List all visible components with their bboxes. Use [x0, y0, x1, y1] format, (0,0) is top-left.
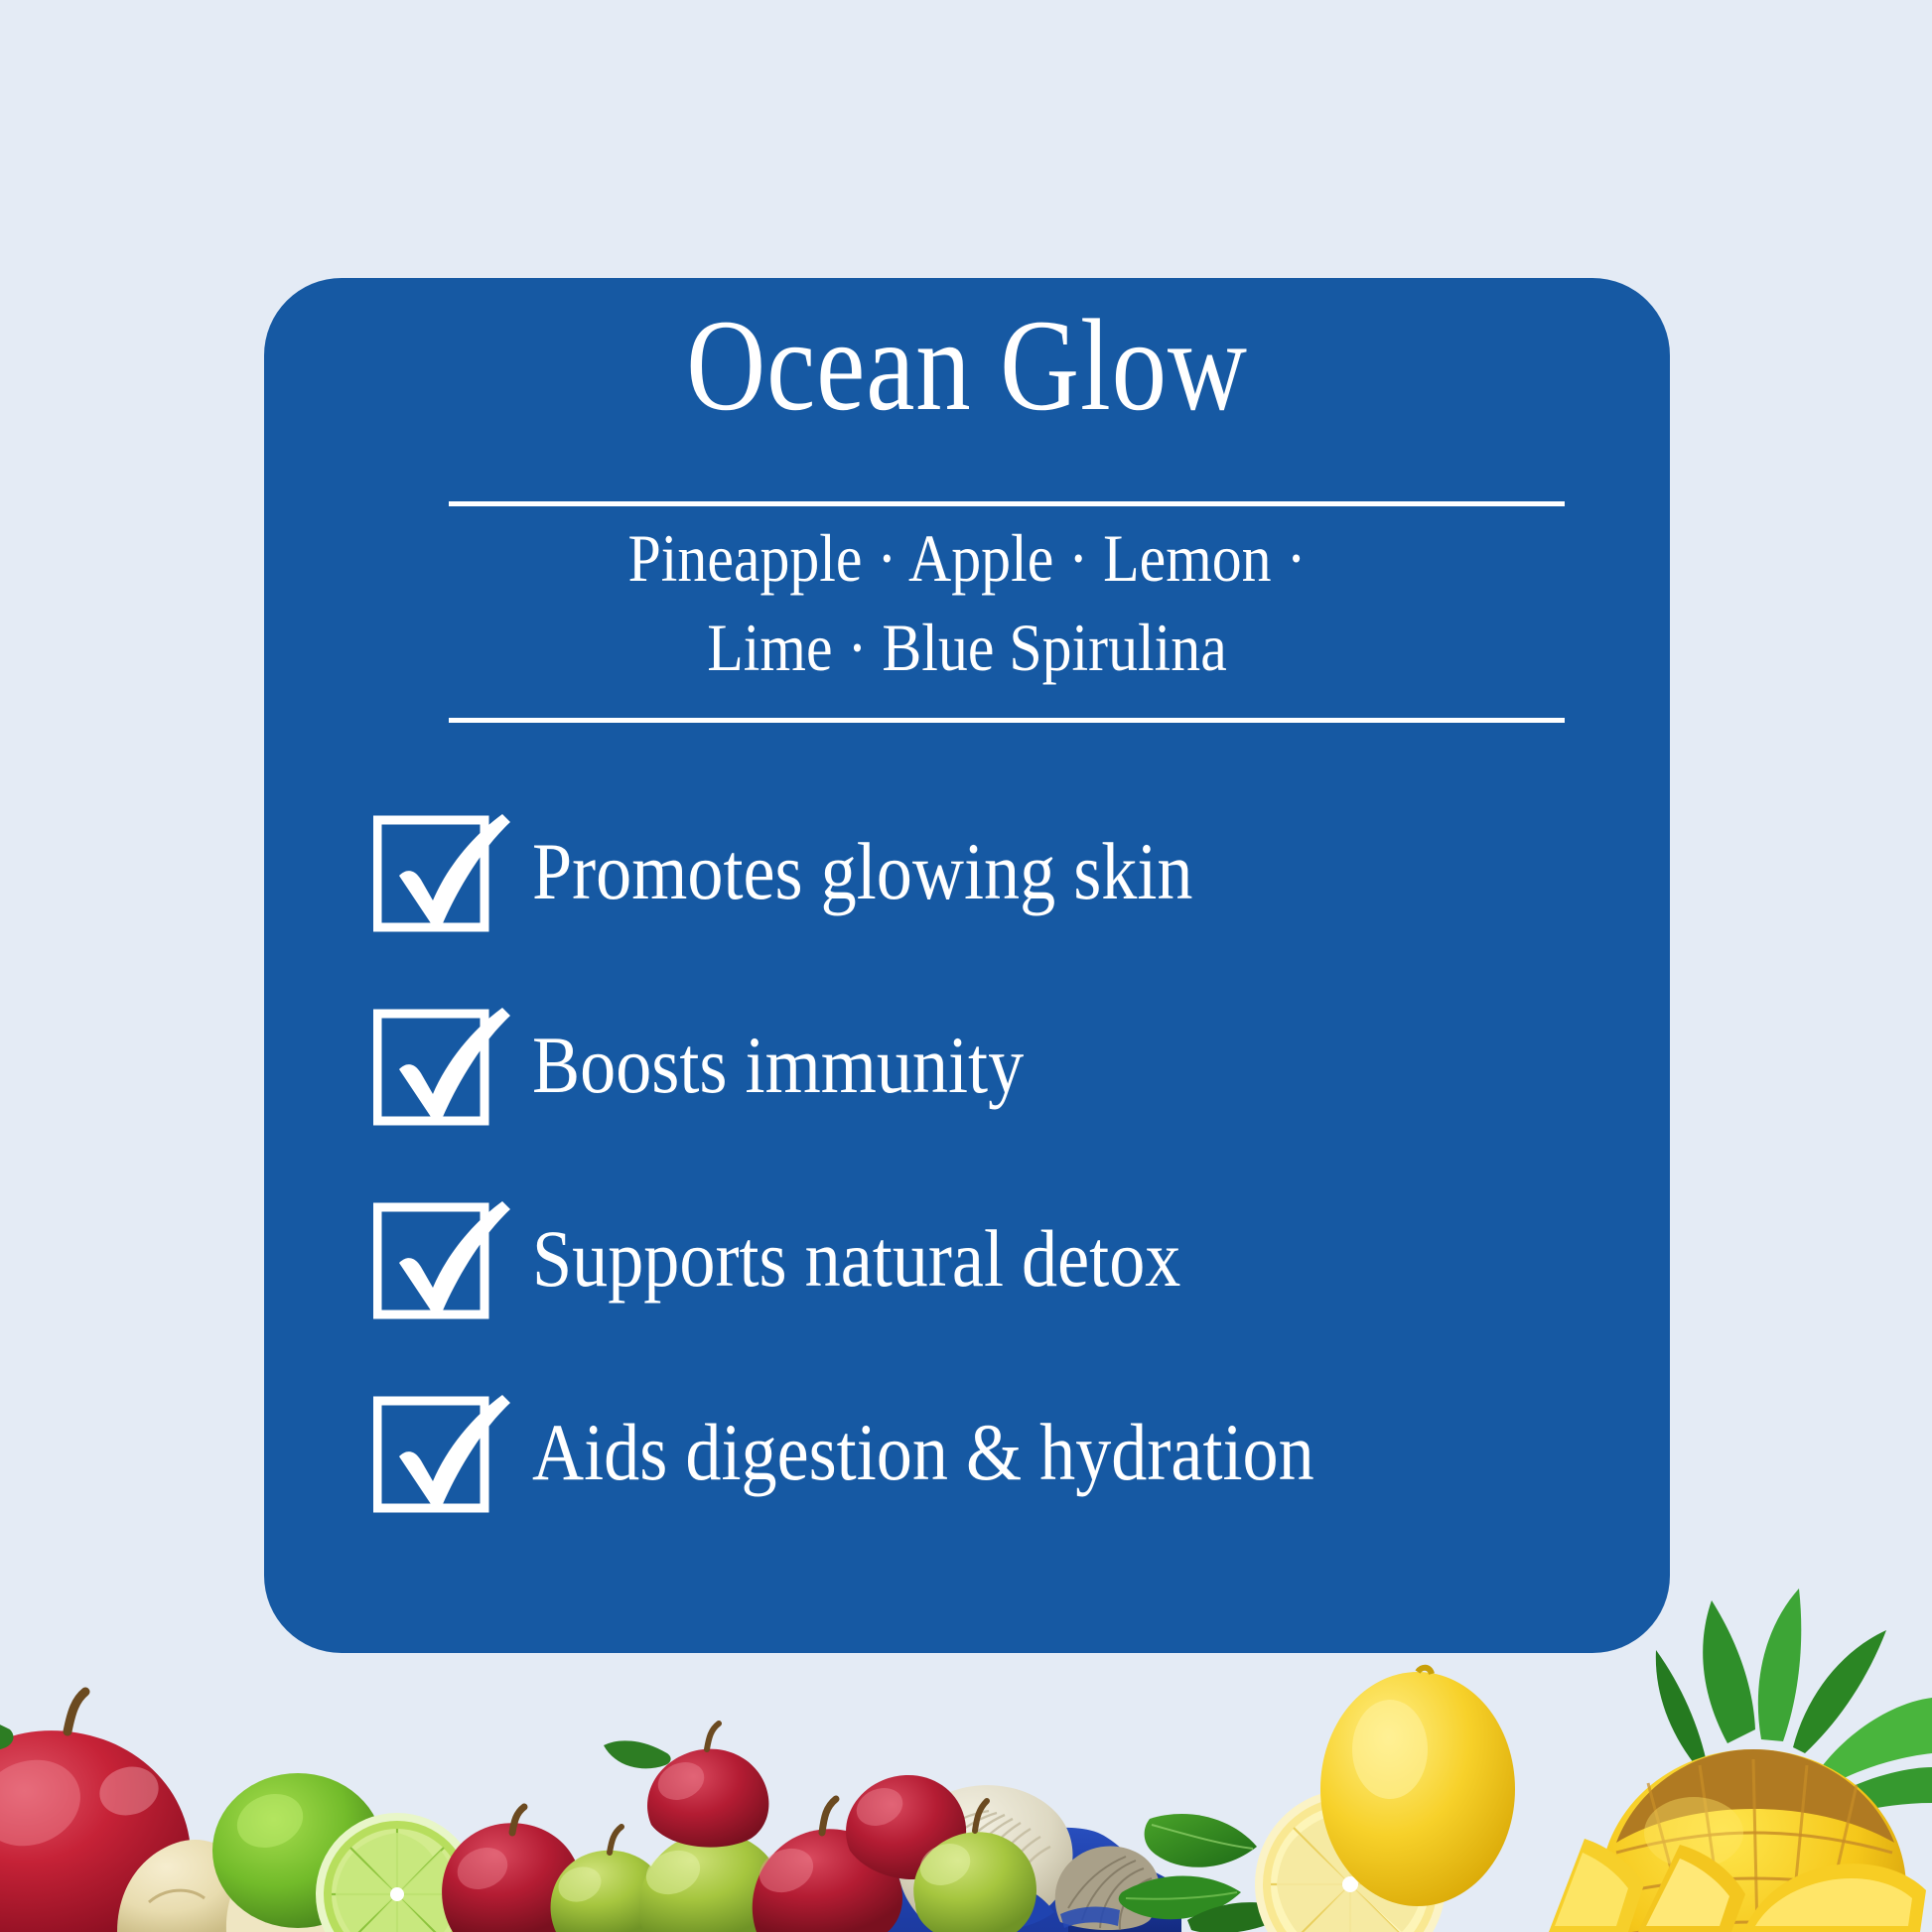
- list-item: Aids digestion & hydration: [264, 1355, 1670, 1549]
- list-item-label: Aids digestion & hydration: [532, 1412, 1314, 1493]
- pineapple-wedges: [1549, 1839, 1926, 1932]
- pineapple-crown: [1656, 1588, 1932, 1817]
- promo-card: Ocean Glow Pineapple · Apple · Lemon · L…: [264, 278, 1670, 1653]
- ingredients-line-1: Pineapple · Apple · Lemon ·: [480, 514, 1454, 604]
- checkmark-box-icon: [373, 1010, 484, 1121]
- list-item: Supports natural detox: [264, 1162, 1670, 1355]
- list-item-label: Promotes glowing skin: [532, 831, 1193, 912]
- green-leaf: [1119, 1876, 1241, 1920]
- green-apple: [913, 1801, 1036, 1932]
- red-apple: [846, 1775, 966, 1879]
- lime-half: [316, 1813, 479, 1932]
- checkmark-box-icon: [373, 816, 484, 927]
- ingredients-list: Pineapple · Apple · Lemon · Lime · Blue …: [480, 514, 1454, 693]
- blue-spirulina-powder: [794, 1813, 1181, 1932]
- list-item-label: Boosts immunity: [532, 1025, 1024, 1106]
- list-item-label: Supports natural detox: [532, 1218, 1180, 1300]
- red-apple-small: [442, 1807, 583, 1932]
- green-apple: [639, 1801, 784, 1932]
- list-item: Promotes glowing skin: [264, 774, 1670, 968]
- red-apple: [604, 1724, 768, 1848]
- list-item: Boosts immunity: [264, 968, 1670, 1162]
- page-title: Ocean Glow: [376, 300, 1557, 431]
- red-apple: [753, 1799, 902, 1932]
- seashell-secondary: [1055, 1846, 1161, 1930]
- pineapple-whole: [1600, 1749, 1906, 1932]
- checkmark-box-icon: [373, 1397, 484, 1508]
- divider-top: [449, 501, 1565, 506]
- green-leaf: [1145, 1814, 1257, 1867]
- seashell: [897, 1785, 1073, 1932]
- benefits-list: Promotes glowing skin Boosts immunity: [264, 774, 1670, 1549]
- poster-canvas: Ocean Glow Pineapple · Apple · Lemon · L…: [0, 0, 1932, 1932]
- lemon-half: [1255, 1789, 1446, 1932]
- divider-bottom: [449, 718, 1565, 723]
- red-apple: [0, 1692, 191, 1932]
- lemon-whole: [1320, 1668, 1515, 1906]
- lime-whole: [212, 1773, 383, 1928]
- ingredients-line-2: Lime · Blue Spirulina: [480, 604, 1454, 693]
- green-leaf: [573, 1885, 683, 1926]
- green-apple: [551, 1827, 668, 1932]
- checkmark-box-icon: [373, 1203, 484, 1314]
- ginger-root: [117, 1839, 469, 1932]
- green-leaf: [1187, 1902, 1291, 1932]
